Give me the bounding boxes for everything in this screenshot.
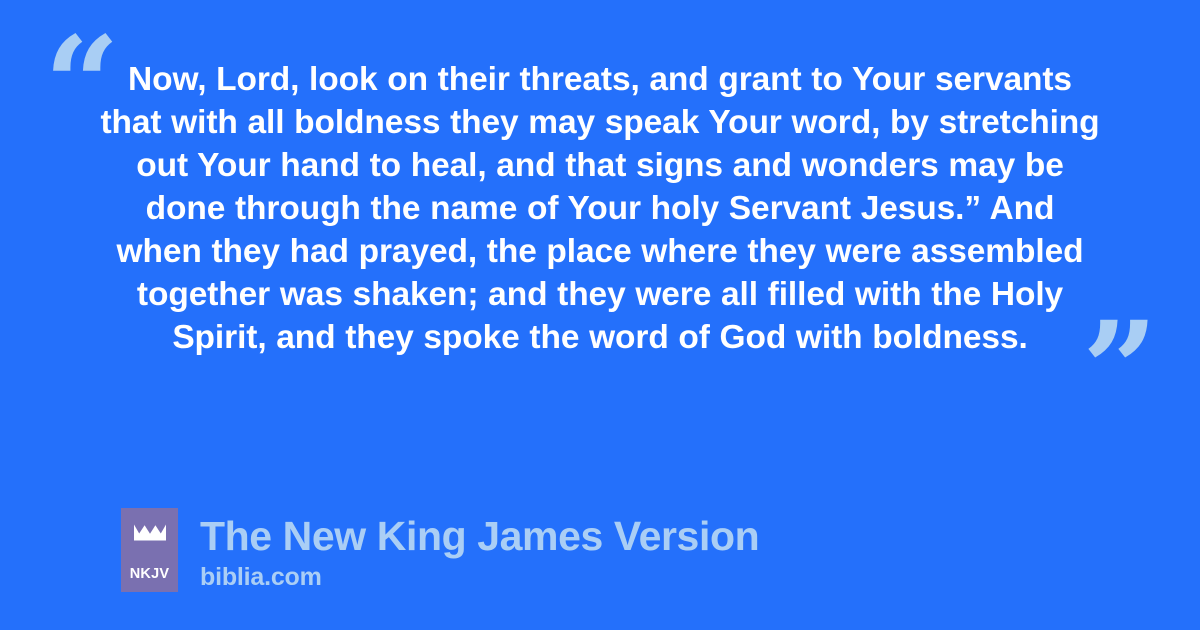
attribution-footer: NKJV The New King James Version biblia.c…: [121, 508, 759, 592]
nkjv-badge: NKJV: [121, 508, 178, 592]
badge-abbrev-label: NKJV: [130, 567, 169, 582]
bible-verse-card: “ Now, Lord, look on their threats, and …: [0, 0, 1200, 630]
site-url-label[interactable]: biblia.com: [200, 562, 759, 592]
quote-block: Now, Lord, look on their threats, and gr…: [100, 58, 1100, 359]
verse-text: Now, Lord, look on their threats, and gr…: [100, 58, 1100, 359]
bible-version-title: The New King James Version: [200, 512, 759, 560]
crown-icon: [133, 523, 167, 547]
close-quote-icon: ”: [1082, 305, 1156, 437]
footer-text-group: The New King James Version biblia.com: [200, 508, 759, 592]
